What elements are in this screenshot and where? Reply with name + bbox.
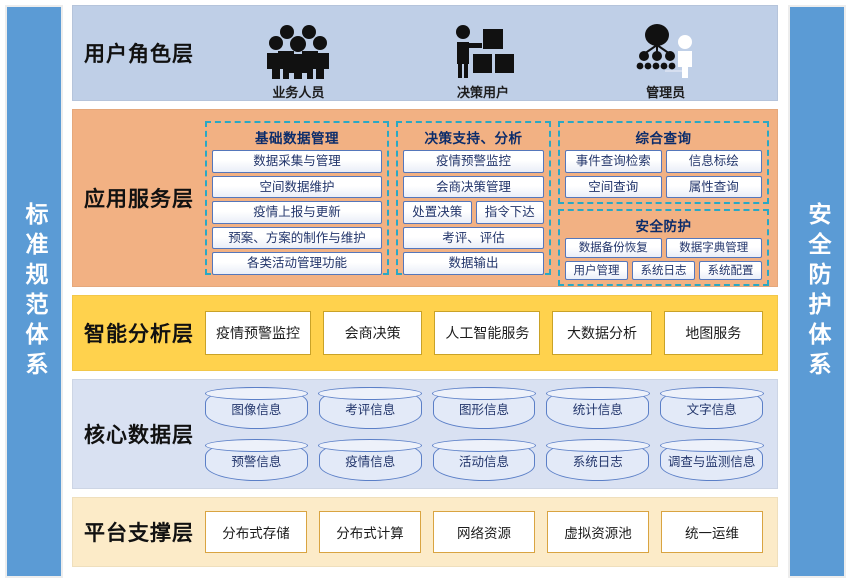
app-item-spatial-data[interactable]: 空间数据维护 [212, 176, 382, 199]
database-survey-monitor[interactable]: 调查与监测信息 [660, 440, 763, 482]
database-epidemic-info[interactable]: 疫情信息 [319, 440, 422, 482]
role-decision-user[interactable]: 决策用户 [452, 13, 514, 101]
app-item-user-management[interactable]: 用户管理 [565, 261, 628, 281]
group-title-decision-support: 决策支持、分析 [403, 127, 544, 147]
group-items-basic-data-management: 数据采集与管理 空间数据维护 疫情上报与更新 预案、方案的制作与维护 各类活动管… [212, 150, 382, 275]
group-title-security-protection: 安全防护 [565, 215, 762, 235]
db-label-survey-monitor: 调查与监测信息 [668, 451, 756, 469]
database-system-log[interactable]: 系统日志 [546, 440, 649, 482]
role-label-administrator: 管理员 [646, 82, 685, 101]
ai-item-consult-decision[interactable]: 会商决策 [323, 311, 422, 355]
group-title-basic-data-management: 基础数据管理 [212, 127, 382, 147]
intelligent-analysis-row: 疫情预警监控 会商决策 人工智能服务 大数据分析 地图服务 [205, 295, 777, 371]
app-item-data-dictionary[interactable]: 数据字典管理 [666, 238, 763, 258]
group-decision-support: 决策支持、分析 疫情预警监控 会商决策管理 处置决策 指令下达 考评、评估 数据… [396, 121, 551, 275]
platform-item-network-resource[interactable]: 网络资源 [433, 511, 535, 553]
app-item-spatial-query[interactable]: 空间查询 [565, 176, 662, 199]
layer-label-user-roles: 用户角色层 [73, 38, 205, 68]
layer-core-data: 核心数据层 图像信息 考评信息 图形信息 统计信息 文字信息 预警信息 疫情信息… [72, 379, 778, 489]
app-item-activity-mgmt[interactable]: 各类活动管理功能 [212, 252, 382, 275]
layer-platform-support: 平台支撑层 分布式存储 分布式计算 网络资源 虚拟资源池 统一运维 [72, 497, 778, 567]
layer-label-platform-support: 平台支撑层 [73, 517, 205, 547]
app-item-epidemic-warning[interactable]: 疫情预警监控 [403, 150, 544, 173]
layer-label-intelligent-analysis: 智能分析层 [73, 318, 205, 348]
database-image-info[interactable]: 图像信息 [205, 387, 308, 429]
role-label-business-staff: 业务人员 [272, 82, 324, 101]
layer-label-application-service: 应用服务层 [73, 183, 205, 213]
app-item-backup-restore[interactable]: 数据备份恢复 [565, 238, 662, 258]
db-label-system-log: 系统日志 [573, 451, 623, 469]
app-item-consult-decision[interactable]: 会商决策管理 [403, 176, 544, 199]
person-with-blocks-icon [452, 23, 514, 79]
platform-item-virtual-pool[interactable]: 虚拟资源池 [547, 511, 649, 553]
application-groups: 基础数据管理 数据采集与管理 空间数据维护 疫情上报与更新 预案、方案的制作与维… [205, 115, 777, 281]
layer-application-service: 应用服务层 基础数据管理 数据采集与管理 空间数据维护 疫情上报与更新 预案、方… [72, 109, 778, 287]
ai-item-ai-service[interactable]: 人工智能服务 [434, 311, 540, 355]
group-items-security-protection: 数据备份恢复 数据字典管理 用户管理 系统日志 系统配置 [565, 238, 762, 280]
query-row-b: 空间查询 属性查询 [565, 176, 762, 199]
layer-intelligent-analysis: 智能分析层 疫情预警监控 会商决策 人工智能服务 大数据分析 地图服务 [72, 295, 778, 371]
left-rail-label: 标准规范体系 [17, 202, 51, 382]
app-item-pair-row: 处置决策 指令下达 [403, 201, 544, 224]
security-row-a: 数据备份恢复 数据字典管理 [565, 238, 762, 258]
db-label-epidemic-info: 疫情信息 [345, 451, 395, 469]
app-item-disposal-decision[interactable]: 处置决策 [403, 201, 472, 224]
role-business-staff[interactable]: 业务人员 [265, 13, 331, 101]
db-label-text-info: 文字信息 [687, 399, 737, 417]
platform-item-distributed-storage[interactable]: 分布式存储 [205, 511, 307, 553]
app-item-system-config[interactable]: 系统配置 [699, 261, 762, 281]
right-rail-security-system: 安全防护体系 [788, 5, 846, 578]
ai-item-epidemic-warning[interactable]: 疫情预警监控 [205, 311, 311, 355]
architecture-stack: 用户角色层 业务人 [72, 5, 778, 578]
ai-item-map-service[interactable]: 地图服务 [664, 311, 763, 355]
left-rail-standard-system: 标准规范体系 [5, 5, 63, 578]
user-roles-row: 业务人员 决策用户 [205, 5, 777, 101]
app-item-info-plotting[interactable]: 信息标绘 [666, 150, 763, 173]
db-label-assessment-info: 考评信息 [345, 399, 395, 417]
security-row-b: 用户管理 系统日志 系统配置 [565, 261, 762, 281]
app-item-data-collection[interactable]: 数据采集与管理 [212, 150, 382, 173]
group-comprehensive-query: 综合查询 事件查询检索 信息标绘 空间查询 属性查询 [558, 121, 769, 204]
platform-item-unified-ops[interactable]: 统一运维 [661, 511, 763, 553]
group-items-comprehensive-query: 事件查询检索 信息标绘 空间查询 属性查询 [565, 150, 762, 198]
ai-item-big-data[interactable]: 大数据分析 [552, 311, 651, 355]
group-security-protection: 安全防护 数据备份恢复 数据字典管理 用户管理 系统日志 系统配置 [558, 209, 769, 286]
database-text-info[interactable]: 文字信息 [660, 387, 763, 429]
platform-item-distributed-compute[interactable]: 分布式计算 [319, 511, 421, 553]
app-item-system-log[interactable]: 系统日志 [632, 261, 695, 281]
right-rail-label: 安全防护体系 [800, 202, 834, 382]
app-item-plan-authoring[interactable]: 预案、方案的制作与维护 [212, 227, 382, 250]
database-activity-info[interactable]: 活动信息 [433, 440, 536, 482]
database-statistic-info[interactable]: 统计信息 [546, 387, 649, 429]
group-right-column: 综合查询 事件查询检索 信息标绘 空间查询 属性查询 安全防护 [558, 121, 769, 275]
layer-user-roles: 用户角色层 业务人 [72, 5, 778, 101]
group-of-people-icon [265, 23, 331, 79]
role-administrator[interactable]: 管理员 [635, 13, 697, 101]
group-items-decision-support: 疫情预警监控 会商决策管理 处置决策 指令下达 考评、评估 数据输出 [403, 150, 544, 275]
layer-label-core-data: 核心数据层 [73, 419, 205, 449]
org-hierarchy-icon [635, 23, 697, 79]
database-assessment-info[interactable]: 考评信息 [319, 387, 422, 429]
app-item-epidemic-report[interactable]: 疫情上报与更新 [212, 201, 382, 224]
app-item-attribute-query[interactable]: 属性查询 [666, 176, 763, 199]
db-label-activity-info: 活动信息 [459, 451, 509, 469]
database-warning-info[interactable]: 预警信息 [205, 440, 308, 482]
app-item-event-search[interactable]: 事件查询检索 [565, 150, 662, 173]
group-basic-data-management: 基础数据管理 数据采集与管理 空间数据维护 疫情上报与更新 预案、方案的制作与维… [205, 121, 389, 275]
core-data-grid: 图像信息 考评信息 图形信息 统计信息 文字信息 预警信息 疫情信息 活动信息 … [205, 379, 777, 489]
db-label-graphic-info: 图形信息 [459, 399, 509, 417]
query-row-a: 事件查询检索 信息标绘 [565, 150, 762, 173]
db-label-statistic-info: 统计信息 [573, 399, 623, 417]
db-label-image-info: 图像信息 [231, 399, 281, 417]
role-label-decision-user: 决策用户 [457, 82, 509, 101]
group-title-comprehensive-query: 综合查询 [565, 127, 762, 147]
app-item-order-dispatch[interactable]: 指令下达 [476, 201, 545, 224]
app-item-data-output[interactable]: 数据输出 [403, 252, 544, 275]
platform-support-row: 分布式存储 分布式计算 网络资源 虚拟资源池 统一运维 [205, 497, 777, 567]
database-graphic-info[interactable]: 图形信息 [433, 387, 536, 429]
db-label-warning-info: 预警信息 [231, 451, 281, 469]
app-item-assessment[interactable]: 考评、评估 [403, 227, 544, 250]
